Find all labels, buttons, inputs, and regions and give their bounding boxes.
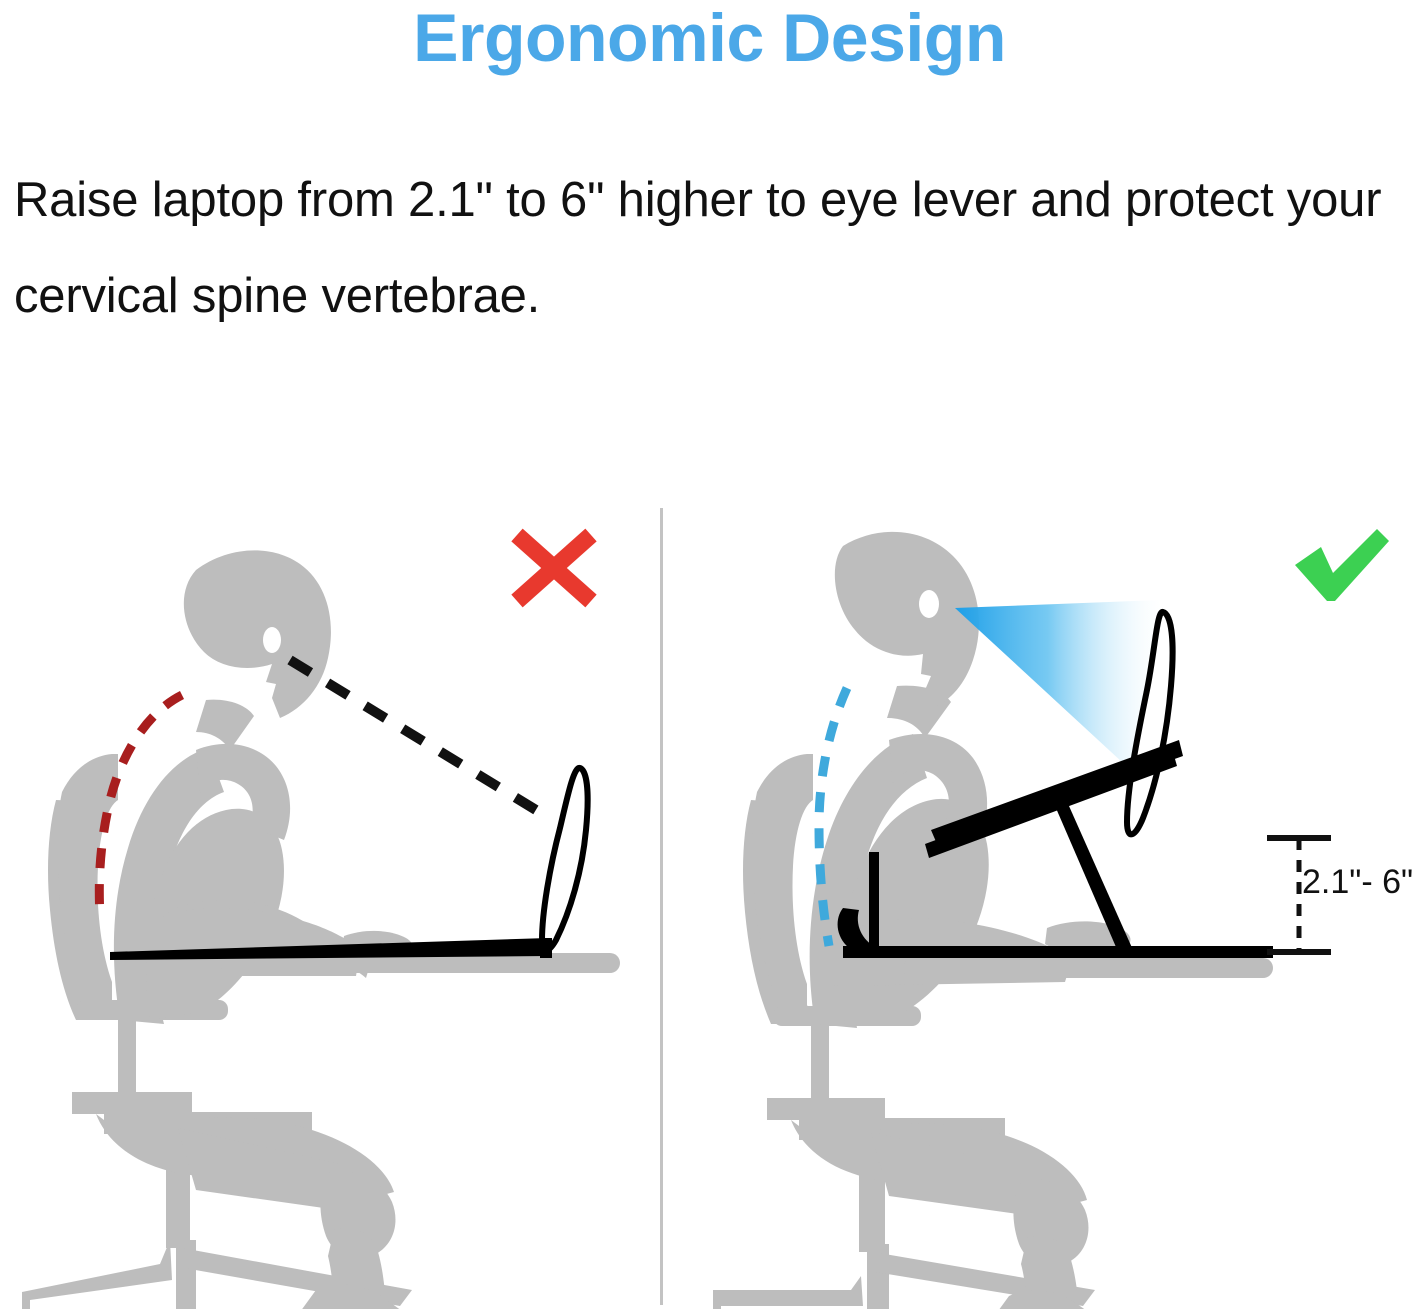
check-icon (1285, 525, 1397, 611)
stand-base-bar (843, 946, 1273, 958)
height-dimension-label: 2.1"- 6" (1302, 862, 1413, 902)
x-icon (505, 525, 605, 611)
body-silhouette-bad (114, 700, 422, 1309)
correct-posture-panel (663, 500, 1419, 1309)
incorrect-posture-panel (0, 500, 660, 1309)
eye-good (919, 590, 939, 618)
head-bad (184, 550, 331, 718)
head-good (835, 532, 979, 708)
eye-bad (263, 627, 281, 653)
desk-surface-good (903, 958, 1273, 978)
header: Ergonomic Design Raise laptop from 2.1" … (0, 0, 1419, 330)
page-title: Ergonomic Design (0, 0, 1419, 80)
incorrect-posture-illustration (0, 500, 660, 1309)
sight-line-bad (290, 660, 536, 810)
page-subtitle: Raise laptop from 2.1" to 6" higher to e… (14, 152, 1404, 344)
correct-posture-illustration (663, 500, 1419, 1309)
